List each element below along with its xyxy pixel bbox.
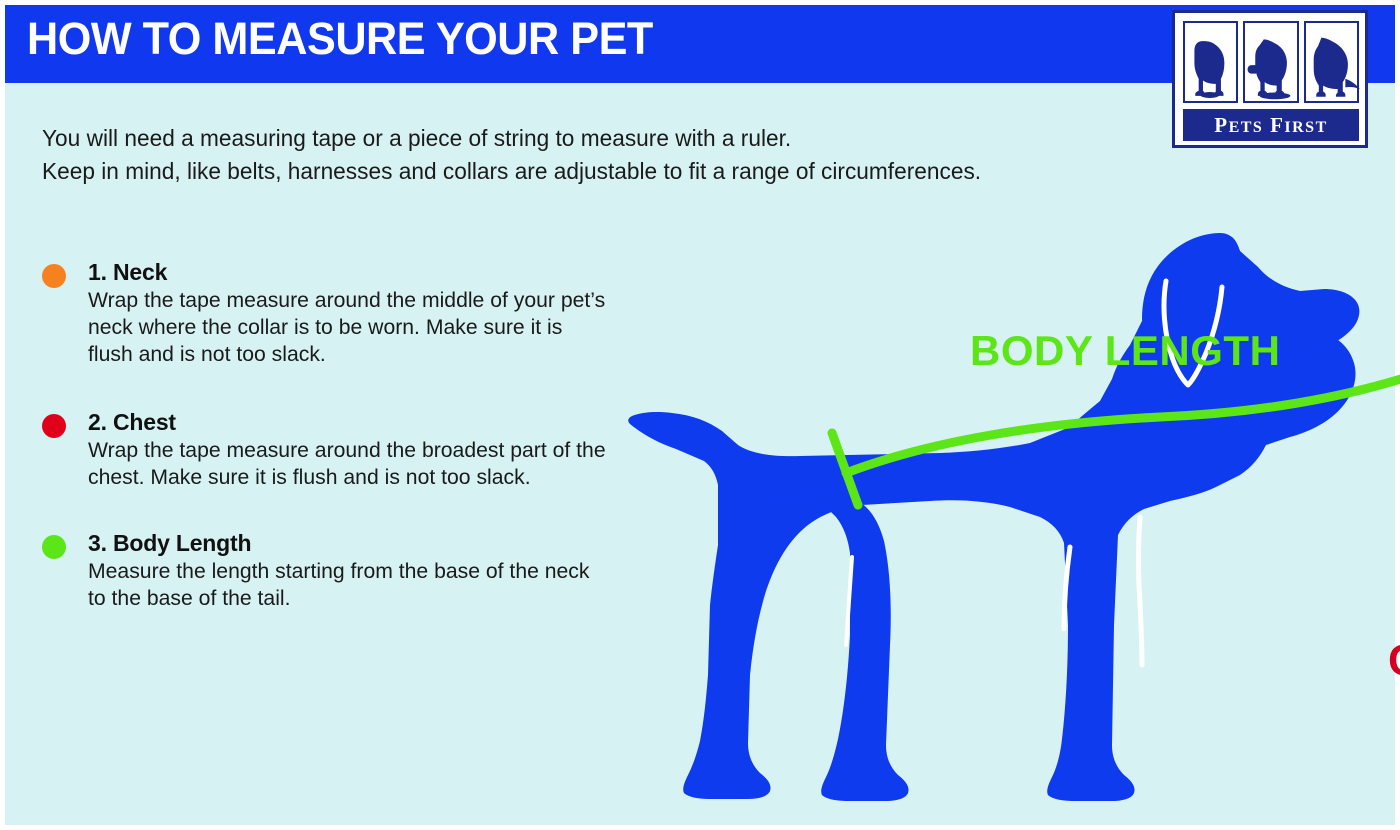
frame-edge-left — [0, 0, 5, 830]
dog-silhouette-icon — [628, 233, 1359, 801]
step-title-body-length: 3. Body Length — [88, 529, 638, 558]
dog-measurement-diagram: BODY LENGTH NECK CHEST — [600, 205, 1400, 830]
step-body-neck: Wrap the tape measure around the middle … — [88, 287, 610, 368]
step-title-neck: 1. Neck — [88, 258, 638, 287]
annotation-label-body-length: BODY LENGTH — [970, 327, 1280, 374]
annotation-label-chest: CHEST — [1388, 636, 1400, 685]
step-body-chest: Wrap the tape measure around the broades… — [88, 437, 610, 491]
dog-sitting-icon — [1183, 21, 1238, 103]
step-item-body-length: 3. Body Length Measure the length starti… — [38, 529, 638, 612]
annotation-chest: CHEST — [1388, 397, 1400, 784]
step-body-body-length: Measure the length starting from the bas… — [88, 558, 610, 612]
infographic-page: HOW TO MEASURE YOUR PET — [0, 0, 1400, 830]
step-bullet-neck — [42, 264, 66, 288]
step-item-chest: 2. Chest Wrap the tape measure around th… — [38, 408, 638, 491]
step-bullet-chest — [42, 414, 66, 438]
step-item-neck: 1. Neck Wrap the tape measure around the… — [38, 258, 638, 368]
intro-paragraph: You will need a measuring tape or a piec… — [42, 122, 1210, 189]
dog-howling-icon — [1243, 21, 1298, 103]
logo-panel-group — [1183, 21, 1359, 103]
intro-line-2: Keep in mind, like belts, harnesses and … — [42, 155, 1210, 188]
step-bullet-body-length — [42, 535, 66, 559]
step-title-chest: 2. Chest — [88, 408, 638, 437]
logo-name-text: PETS FIRST — [1214, 115, 1328, 136]
intro-line-1: You will need a measuring tape or a piec… — [42, 122, 1210, 155]
page-title: HOW TO MEASURE YOUR PET — [27, 13, 653, 65]
measurement-steps-list: 1. Neck Wrap the tape measure around the… — [38, 258, 638, 640]
dog-shepherd-icon — [1304, 21, 1359, 103]
